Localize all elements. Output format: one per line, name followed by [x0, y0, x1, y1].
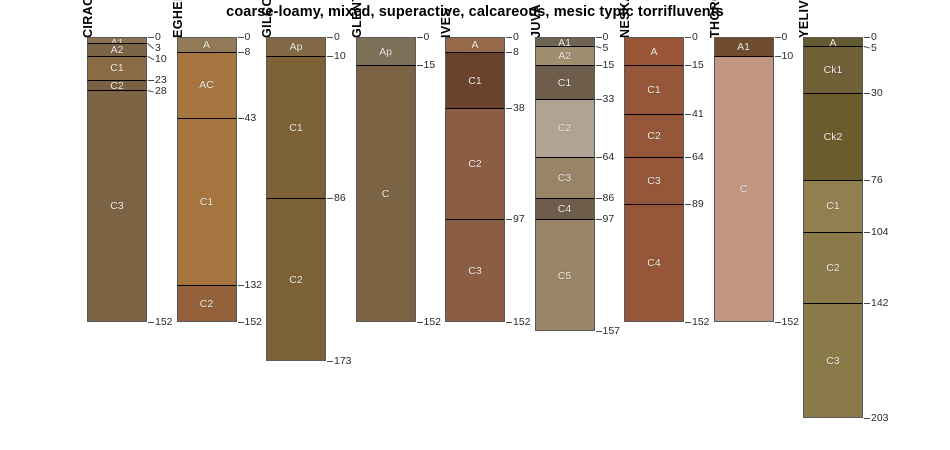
soil-horizon: C1 — [266, 56, 326, 199]
depth-tick — [596, 219, 602, 220]
depth-label: 10 — [782, 51, 794, 62]
soil-horizon: C3 — [535, 157, 595, 198]
soil-horizon: C3 — [445, 219, 505, 322]
horizon-label: C2 — [625, 131, 683, 142]
depth-label: 33 — [603, 94, 615, 105]
horizon-label: C — [715, 184, 773, 195]
depth-label: 0 — [871, 32, 877, 43]
depth-label: 10 — [334, 51, 346, 62]
depth-tick — [506, 322, 512, 323]
depth-tick — [685, 37, 691, 38]
depth-tick — [238, 118, 244, 119]
soil-horizon: A — [445, 37, 505, 52]
horizon-label: A — [446, 40, 504, 51]
horizon-label: C2 — [536, 123, 594, 134]
horizon-label: C1 — [804, 201, 862, 212]
depth-tick — [864, 37, 870, 38]
horizon-label: C5 — [536, 271, 594, 282]
depth-tick — [596, 198, 602, 199]
depth-tick — [596, 37, 602, 38]
soil-profile-chart: coarse-loamy, mixed, superactive, calcar… — [0, 0, 950, 450]
soil-horizon: C2 — [624, 114, 684, 157]
horizon-label: C1 — [88, 63, 146, 74]
depth-tick — [506, 219, 512, 220]
horizon-label: C4 — [536, 204, 594, 215]
depth-label: 41 — [692, 109, 704, 120]
soil-horizon: C5 — [535, 219, 595, 332]
profile-column: AC1C2C3C4 — [624, 37, 684, 322]
depth-label: 152 — [692, 317, 710, 328]
depth-tick — [596, 157, 602, 158]
depth-label: 152 — [155, 317, 173, 328]
profile-column: ApC1C2 — [266, 37, 326, 361]
horizon-label: AC — [178, 80, 236, 91]
depth-tick — [506, 108, 512, 109]
soil-horizon: C — [714, 56, 774, 322]
depth-label: 8 — [513, 47, 519, 58]
profile-column: ApC — [356, 37, 416, 322]
depth-label: 38 — [513, 103, 525, 114]
profile-column: A1C — [714, 37, 774, 322]
horizon-label: C1 — [267, 123, 325, 134]
depth-leader-line — [864, 46, 870, 49]
depth-tick — [238, 52, 244, 53]
depth-label: 23 — [155, 75, 167, 86]
horizon-label: A2 — [536, 51, 594, 62]
depth-label: 3 — [155, 43, 161, 54]
depth-tick — [864, 418, 870, 419]
depth-tick — [685, 157, 691, 158]
depth-label: 64 — [692, 152, 704, 163]
depth-leader-line — [148, 56, 154, 60]
horizon-label: C2 — [267, 275, 325, 286]
depth-tick — [775, 37, 781, 38]
depth-label: 89 — [692, 199, 704, 210]
depth-tick — [685, 114, 691, 115]
depth-label: 0 — [334, 32, 340, 43]
depth-label: 15 — [603, 60, 615, 71]
depth-tick — [417, 37, 423, 38]
depth-tick — [864, 303, 870, 304]
profile-name-label: GLENTON — [350, 0, 364, 38]
depth-label: 0 — [782, 32, 788, 43]
depth-label: 0 — [603, 32, 609, 43]
depth-label: 5 — [603, 43, 609, 54]
horizon-label: C2 — [804, 263, 862, 274]
profile-column: A1A2C1C2C3C4C5 — [535, 37, 595, 331]
soil-horizon: A — [624, 37, 684, 65]
soil-horizon: C3 — [803, 303, 863, 417]
profile-name-label: YELIVES — [797, 0, 811, 38]
soil-horizon: C2 — [535, 99, 595, 157]
soil-horizon: C1 — [87, 56, 147, 80]
horizon-label: C2 — [88, 81, 146, 89]
depth-tick — [864, 180, 870, 181]
depth-label: 30 — [871, 88, 883, 99]
soil-horizon: Ck1 — [803, 46, 863, 93]
depth-label: 76 — [871, 175, 883, 186]
soil-horizon: C2 — [445, 108, 505, 219]
soil-horizon: C1 — [803, 180, 863, 233]
depth-label: 152 — [245, 317, 263, 328]
soil-horizon: C1 — [445, 52, 505, 108]
soil-horizon: Ap — [356, 37, 416, 65]
profile-column: A1A2C1C2C3 — [87, 37, 147, 322]
horizon-label: C3 — [536, 173, 594, 184]
depth-label: 0 — [692, 32, 698, 43]
horizon-label: A1 — [715, 42, 773, 53]
depth-tick — [327, 56, 333, 57]
depth-tick — [685, 322, 691, 323]
depth-leader-line — [148, 90, 154, 93]
soil-horizon: C4 — [624, 204, 684, 322]
profile-name-label: EGHELM — [171, 0, 185, 38]
soil-horizon: C1 — [624, 65, 684, 114]
horizon-label: A — [804, 38, 862, 46]
depth-label: 5 — [871, 43, 877, 54]
horizon-label: A1 — [536, 38, 594, 46]
soil-horizon: C — [356, 65, 416, 322]
profile-name-label: JUVA — [529, 4, 543, 38]
depth-tick — [148, 322, 154, 323]
horizon-label: C3 — [804, 356, 862, 367]
depth-label: 104 — [871, 227, 889, 238]
depth-label: 0 — [424, 32, 430, 43]
soil-horizon: C2 — [177, 285, 237, 323]
horizon-label: Ck1 — [804, 65, 862, 76]
depth-tick — [327, 198, 333, 199]
soil-horizon: C3 — [624, 157, 684, 204]
profile-column: AC1C2C3 — [445, 37, 505, 322]
soil-horizon: C3 — [87, 90, 147, 323]
depth-label: 28 — [155, 86, 167, 97]
depth-label: 157 — [603, 326, 621, 337]
depth-tick — [506, 37, 512, 38]
depth-label: 97 — [603, 214, 615, 225]
depth-tick — [685, 204, 691, 205]
horizon-label: A2 — [88, 45, 146, 56]
depth-label: 0 — [245, 32, 251, 43]
depth-tick — [596, 331, 602, 332]
horizon-label: C3 — [625, 176, 683, 187]
horizon-label: C1 — [536, 78, 594, 89]
depth-label: 0 — [513, 32, 519, 43]
soil-horizon: C2 — [87, 80, 147, 89]
profile-name-label: IVES — [439, 8, 453, 38]
horizon-label: C1 — [446, 76, 504, 87]
soil-horizon: C2 — [803, 232, 863, 303]
soil-horizon: Ap — [266, 37, 326, 56]
depth-tick — [596, 99, 602, 100]
depth-leader-line — [595, 46, 601, 49]
depth-label: 152 — [424, 317, 442, 328]
soil-horizon: C2 — [266, 198, 326, 361]
depth-leader-line — [147, 43, 154, 49]
horizon-label: C1 — [178, 197, 236, 208]
horizon-label: C4 — [625, 258, 683, 269]
depth-tick — [327, 37, 333, 38]
horizon-label: C1 — [625, 85, 683, 96]
horizon-label: A — [178, 40, 236, 51]
horizon-label: C3 — [446, 266, 504, 277]
depth-label: 152 — [513, 317, 531, 328]
depth-label: 86 — [603, 193, 615, 204]
horizon-label: C2 — [446, 159, 504, 170]
soil-horizon: A — [177, 37, 237, 52]
horizon-label: C — [357, 189, 415, 200]
soil-horizon: Ck2 — [803, 93, 863, 179]
profile-name-label: GILCO — [260, 0, 274, 38]
depth-label: 132 — [245, 280, 263, 291]
depth-label: 0 — [155, 32, 161, 43]
depth-tick — [327, 361, 333, 362]
soil-horizon: C4 — [535, 198, 595, 219]
depth-label: 86 — [334, 193, 346, 204]
depth-label: 15 — [692, 60, 704, 71]
depth-label: 173 — [334, 356, 352, 367]
profile-name-label: THOROUGHFARE — [708, 0, 722, 38]
depth-label: 142 — [871, 298, 889, 309]
depth-label: 152 — [782, 317, 800, 328]
depth-label: 15 — [424, 60, 436, 71]
depth-tick — [417, 322, 423, 323]
depth-tick — [148, 37, 154, 38]
horizon-label: Ck2 — [804, 132, 862, 143]
horizon-label: C2 — [178, 299, 236, 310]
soil-horizon: A2 — [535, 46, 595, 65]
profile-name-label: CIRAC — [81, 0, 95, 38]
depth-tick — [775, 56, 781, 57]
depth-tick — [148, 80, 154, 81]
depth-tick — [417, 65, 423, 66]
soil-horizon: A2 — [87, 43, 147, 56]
soil-horizon: AC — [177, 52, 237, 118]
depth-tick — [685, 65, 691, 66]
depth-label: 10 — [155, 54, 167, 65]
depth-label: 97 — [513, 214, 525, 225]
horizon-label: Ap — [357, 47, 415, 58]
depth-tick — [238, 285, 244, 286]
depth-label: 43 — [245, 113, 257, 124]
depth-tick — [238, 322, 244, 323]
depth-tick — [864, 232, 870, 233]
depth-tick — [506, 52, 512, 53]
profile-column: AACC1C2 — [177, 37, 237, 322]
horizon-label: Ap — [267, 42, 325, 53]
depth-label: 8 — [245, 47, 251, 58]
depth-label: 203 — [871, 413, 889, 424]
soil-horizon: A1 — [714, 37, 774, 56]
soil-horizon: C1 — [177, 118, 237, 285]
depth-tick — [238, 37, 244, 38]
depth-tick — [864, 93, 870, 94]
depth-tick — [775, 322, 781, 323]
horizon-label: A — [625, 47, 683, 58]
depth-tick — [596, 65, 602, 66]
soil-horizon: A1 — [535, 37, 595, 46]
depth-label: 64 — [603, 152, 615, 163]
soil-horizon: C1 — [535, 65, 595, 99]
soil-horizon: A — [803, 37, 863, 46]
horizon-label: C3 — [88, 201, 146, 212]
profile-name-label: NESKAHI — [618, 0, 632, 38]
profile-column: ACk1Ck2C1C2C3 — [803, 37, 863, 418]
